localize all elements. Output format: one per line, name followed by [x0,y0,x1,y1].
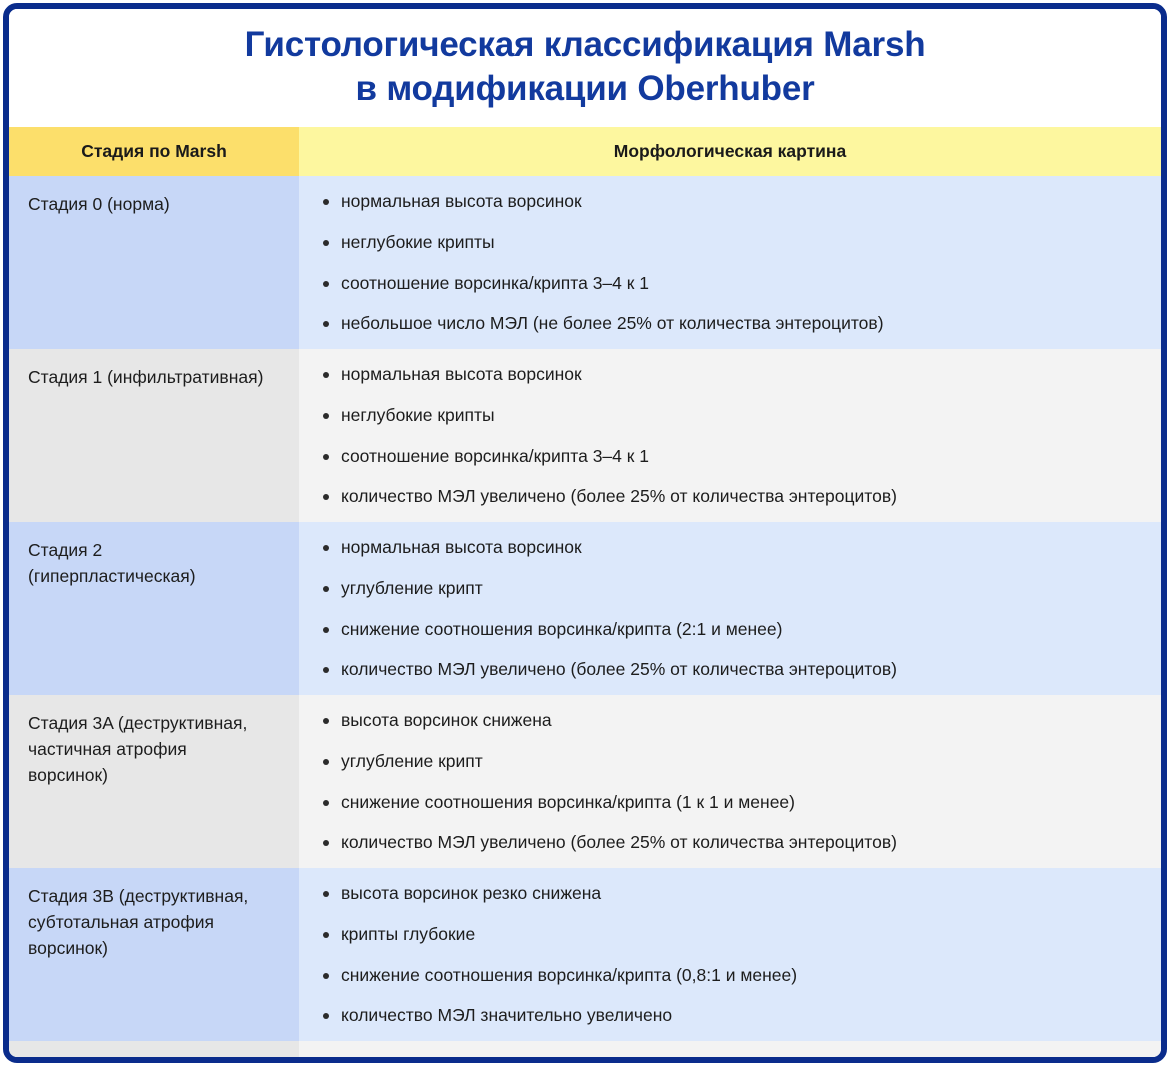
table-row: Стадия 0 (норма) нормальная высота ворси… [9,176,1161,349]
list-item: количество МЭЛ увеличено (более 25% от к… [341,485,1137,508]
feature-list: ворсинки полностью отсутствуют крипты гл… [299,1055,1137,1063]
list-item: высота ворсинок резко снижена [341,882,1137,905]
list-item: неглубокие крипты [341,404,1137,427]
morphology-cell: нормальная высота ворсинок неглубокие кр… [299,349,1161,522]
list-item: количество МЭЛ значительно увеличено [341,1004,1137,1027]
title-line-1: Гистологическая классификация Marsh [49,23,1121,67]
list-item: соотношение ворсинка/крипта 3–4 к 1 [341,445,1137,468]
list-item: углубление крипт [341,577,1137,600]
column-header-morphology: Морфологическая картина [299,127,1161,176]
morphology-cell: высота ворсинок снижена углубление крипт… [299,695,1161,868]
stage-label: Стадия 3C (деструктивная, тотальная атро… [28,1057,281,1063]
stage-label: Стадия 2 (гиперпластическая) [28,538,281,589]
stage-cell: Стадия 1 (инфильтративная) [9,349,299,522]
column-header-stage: Стадия по Marsh [9,127,299,176]
list-item: снижение соотношения ворсинка/крипта (0,… [341,964,1137,987]
list-item: нормальная высота ворсинок [341,536,1137,559]
table-header-row: Стадия по Marsh Морфологическая картина [9,127,1161,176]
stage-label: Стадия 0 (норма) [28,192,281,218]
table-header: Стадия по Marsh Морфологическая картина [9,127,1161,176]
stage-label: Стадия 3B (деструктивная, субтотальная а… [28,884,281,961]
feature-list: нормальная высота ворсинок неглубокие кр… [299,190,1137,335]
table-row: Стадия 3C (деструктивная, тотальная атро… [9,1041,1161,1063]
list-item: нормальная высота ворсинок [341,190,1137,213]
table-body: Стадия 0 (норма) нормальная высота ворси… [9,176,1161,1063]
list-item: высота ворсинок снижена [341,709,1137,732]
list-item: крипты глубокие [341,923,1137,946]
feature-list: высота ворсинок резко снижена крипты глу… [299,882,1137,1027]
stage-label: Стадия 3A (деструктивная, частичная атро… [28,711,281,788]
table-row: Стадия 3B (деструктивная, субтотальная а… [9,868,1161,1041]
morphology-cell: нормальная высота ворсинок углубление кр… [299,522,1161,695]
list-item: количество МЭЛ увеличено (более 25% от к… [341,658,1137,681]
morphology-cell: нормальная высота ворсинок неглубокие кр… [299,176,1161,349]
morphology-cell: высота ворсинок резко снижена крипты глу… [299,868,1161,1041]
list-item: неглубокие крипты [341,231,1137,254]
list-item: углубление крипт [341,750,1137,773]
feature-list: нормальная высота ворсинок неглубокие кр… [299,363,1137,508]
stage-cell: Стадия 3C (деструктивная, тотальная атро… [9,1041,299,1063]
list-item: снижение соотношения ворсинка/крипта (1 … [341,791,1137,814]
title-line-2: в модификации Oberhuber [49,67,1121,111]
list-item: небольшое число МЭЛ (не более 25% от кол… [341,312,1137,335]
feature-list: высота ворсинок снижена углубление крипт… [299,709,1137,854]
list-item: снижение соотношения ворсинка/крипта (2:… [341,618,1137,641]
stage-cell: Стадия 0 (норма) [9,176,299,349]
table-row: Стадия 3A (деструктивная, частичная атро… [9,695,1161,868]
table-row: Стадия 1 (инфильтративная) нормальная вы… [9,349,1161,522]
list-item: нормальная высота ворсинок [341,363,1137,386]
stage-cell: Стадия 3A (деструктивная, частичная атро… [9,695,299,868]
list-item: соотношение ворсинка/крипта 3–4 к 1 [341,272,1137,295]
morphology-cell: ворсинки полностью отсутствуют крипты гл… [299,1041,1161,1063]
marsh-classification-table: Стадия по Marsh Морфологическая картина … [9,127,1161,1063]
table-row: Стадия 2 (гиперпластическая) нормальная … [9,522,1161,695]
stage-cell: Стадия 2 (гиперпластическая) [9,522,299,695]
stage-cell: Стадия 3B (деструктивная, субтотальная а… [9,868,299,1041]
feature-list: нормальная высота ворсинок углубление кр… [299,536,1137,681]
infographic-page: Гистологическая классификация Marsh в мо… [0,0,1170,1066]
stage-label: Стадия 1 (инфильтративная) [28,365,281,391]
page-title: Гистологическая классификация Marsh в мо… [9,9,1161,127]
bordered-frame: Гистологическая классификация Marsh в мо… [3,3,1167,1063]
list-item: количество МЭЛ увеличено (более 25% от к… [341,831,1137,854]
list-item: ворсинки полностью отсутствуют [341,1055,1137,1063]
